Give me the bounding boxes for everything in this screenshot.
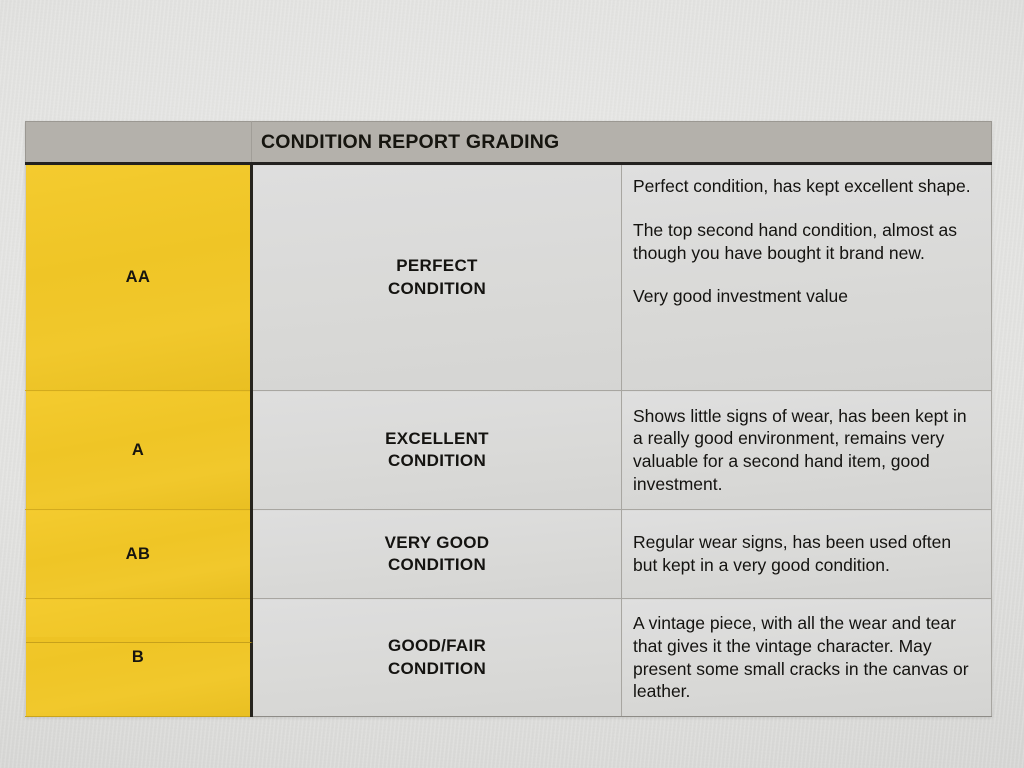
condition-report-grading-table: CONDITION REPORT GRADING AA PERFECT COND… <box>25 121 992 717</box>
description-paragraph: Shows little signs of wear, has been kep… <box>633 405 980 496</box>
table-row: A EXCELLENT CONDITION Shows little signs… <box>26 391 992 510</box>
description-paragraph: Regular wear signs, has been used often … <box>633 531 980 577</box>
table-header-row: CONDITION REPORT GRADING <box>26 122 992 164</box>
grade-badge-aa: AA <box>26 164 252 391</box>
condition-name-b: GOOD/FAIR CONDITION <box>252 599 622 717</box>
condition-name-line-1: PERFECT <box>396 256 477 275</box>
condition-name-line-1: VERY GOOD <box>385 533 490 552</box>
table-row: B GOOD/FAIR CONDITION A vintage piece, w… <box>26 599 992 717</box>
table-row: AB VERY GOOD CONDITION Regular wear sign… <box>26 510 992 599</box>
grade-badge-b: B <box>26 599 252 717</box>
condition-name-ab: VERY GOOD CONDITION <box>252 510 622 599</box>
grade-column-bottom-edge <box>26 637 253 643</box>
grade-badge-a: A <box>26 391 252 510</box>
description-paragraph: Very good investment value <box>633 285 980 308</box>
description-paragraph: The top second hand condition, almost as… <box>633 219 980 265</box>
condition-name-line-2: CONDITION <box>388 451 486 470</box>
condition-description-ab: Regular wear signs, has been used often … <box>622 510 992 599</box>
condition-name-aa: PERFECT CONDITION <box>252 164 622 391</box>
condition-name-line-1: EXCELLENT <box>385 429 489 448</box>
condition-description-aa: Perfect condition, has kept excellent sh… <box>622 164 992 391</box>
condition-name-line-2: CONDITION <box>388 279 486 298</box>
page-title: CONDITION REPORT GRADING <box>252 122 991 162</box>
condition-description-b: A vintage piece, with all the wear and t… <box>622 599 992 717</box>
description-paragraph: Perfect condition, has kept excellent sh… <box>633 175 980 198</box>
condition-name-line-2: CONDITION <box>388 555 486 574</box>
description-paragraph: A vintage piece, with all the wear and t… <box>633 612 980 703</box>
condition-name-line-1: GOOD/FAIR <box>388 636 486 655</box>
header-blank-cell <box>26 122 252 164</box>
condition-description-a: Shows little signs of wear, has been kep… <box>622 391 992 510</box>
condition-name-a: EXCELLENT CONDITION <box>252 391 622 510</box>
table-row: AA PERFECT CONDITION Perfect condition, … <box>26 164 992 391</box>
condition-name-line-2: CONDITION <box>388 659 486 678</box>
grade-badge-ab: AB <box>26 510 252 599</box>
header-title-cell: CONDITION REPORT GRADING <box>252 122 992 164</box>
